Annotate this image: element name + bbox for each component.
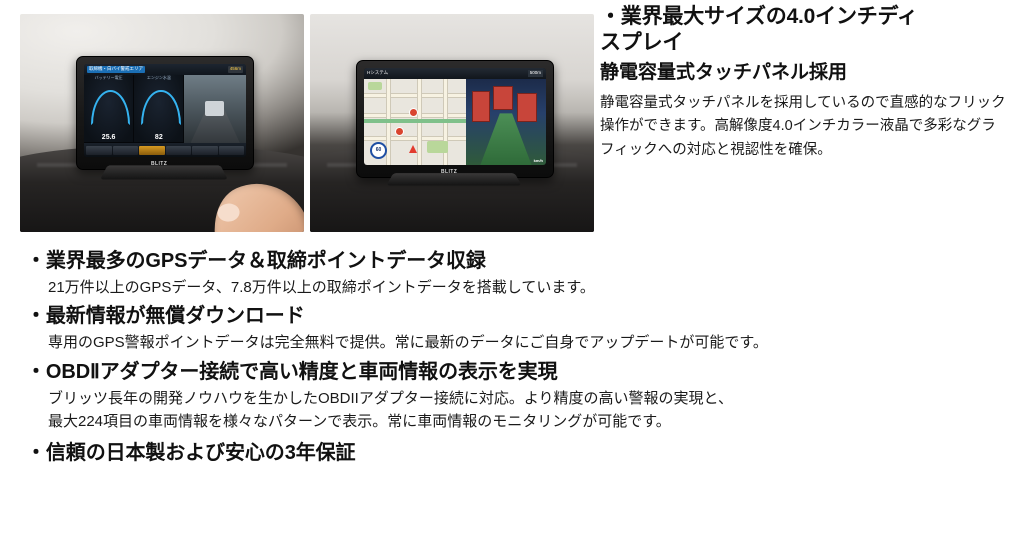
feature-section-free-download: ・最新情報が無償ダウンロード 専用のGPS警報ポイントデータは完全無料で提供。常… [26, 301, 1006, 354]
screen-button[interactable] [219, 146, 245, 155]
building-graphic [517, 93, 537, 123]
section-title: ・信頼の日本製および安心の3年保証 [26, 438, 1006, 468]
device-screen-left: 取締機・白バイ警戒エリア 456m バッテリー電圧 25.6 [84, 64, 246, 157]
section-title: ・OBDⅡアダプター接続で高い精度と車両情報の表示を実現 [26, 357, 1006, 387]
device-stand [386, 173, 521, 185]
gps-device-body: Hシステム 500m [356, 60, 554, 178]
map-green-area [368, 82, 382, 90]
gauge-water-temp-label: エンジン水温 [134, 76, 183, 80]
section-title: ・業界最多のGPSデータ＆取締ポイントデータ収録 [26, 246, 1006, 276]
building-graphic [472, 91, 490, 122]
feature-section-gps-data: ・業界最多のGPSデータ＆取締ポイントデータ収録 21万件以上のGPSデータ、7… [26, 246, 1006, 299]
device-stand [100, 165, 228, 179]
screen-status-bar: 取締機・白バイ警戒エリア 456m [84, 64, 246, 75]
section-body: 21万件以上のGPSデータ、7.8万件以上の取締ポイントデータを搭載しています。 [26, 276, 1006, 299]
section-body-line: 最大224項目の車両情報を様々なパターンで表示。常に車両情報のモニタリングが可能… [48, 410, 1006, 433]
gauge-column: バッテリー電圧 25.6 エンジン水温 82 [84, 75, 184, 143]
gauge-arc-icon [91, 90, 130, 125]
gauge-water-temp-value: 82 [134, 134, 183, 141]
gauge-water-temp[interactable]: エンジン水温 82 [134, 75, 184, 142]
gauge-row: バッテリー電圧 25.6 エンジン水温 82 [84, 75, 184, 143]
section-body: ブリッツ長年の開発ノウハウを生かしたOBDIIアダプター接続に対応。より精度の高… [26, 387, 1006, 434]
3d-view-pane[interactable]: km/h [466, 79, 546, 165]
display-feature-body: 静電容量式タッチパネルを採用しているので直感的なフリック操作ができます。高解像度… [600, 92, 1010, 162]
gauge-voltage[interactable]: バッテリー電圧 25.6 [84, 75, 134, 142]
screen-main-panel: バッテリー電圧 25.6 エンジン水温 82 [84, 75, 246, 143]
map-road [364, 136, 466, 141]
vehicle-position-arrow [409, 145, 417, 153]
display-feature-subhead: 静電容量式タッチパネル採用 [600, 61, 1010, 86]
map-pane[interactable]: 60 [364, 79, 466, 165]
map-green-area [427, 141, 447, 153]
feature-section-warranty: ・信頼の日本製および安心の3年保証 [26, 438, 1006, 468]
gauge-arc-icon [141, 90, 180, 125]
section-body-line: ブリッツ長年の開発ノウハウを生かしたOBDIIアダプター接続に対応。より精度の高… [48, 387, 1006, 410]
speed-limit-sign: 60 [370, 142, 387, 159]
display-feature-headline: ・業界最大サイズの4.0インチディ スプレイ [600, 4, 1010, 57]
building-graphic [493, 86, 513, 110]
device-screen-right: Hシステム 500m [364, 68, 546, 165]
map-road [364, 93, 466, 98]
screen-button-active[interactable] [139, 146, 165, 155]
fingernail [217, 203, 240, 222]
map-scale-label: 500m [528, 70, 543, 77]
headline-line-1: ・業界最大サイズの4.0インチディ [600, 5, 918, 28]
screen-button[interactable] [113, 146, 139, 155]
screen-button[interactable] [192, 146, 218, 155]
current-speed-readout: km/h [534, 159, 543, 163]
gps-device-body: 取締機・白バイ警戒エリア 456m バッテリー電圧 25.6 [76, 56, 254, 170]
section-body-line: 専用のGPS警報ポイントデータは完全無料で提供。常に最新のデータにご自身でアップ… [48, 331, 1006, 354]
feature-section-obd2: ・OBDⅡアダプター接続で高い精度と車両情報の表示を実現 ブリッツ長年の開発ノウ… [26, 357, 1006, 434]
system-label: Hシステム [367, 71, 388, 76]
touch-operation-photo: 取締機・白バイ警戒エリア 456m バッテリー電圧 25.6 [20, 14, 304, 232]
screen-button-bar [84, 143, 246, 157]
headline-line-2: スプレイ [600, 30, 1010, 56]
car-graphic [205, 101, 223, 116]
display-feature-block: ・業界最大サイズの4.0インチディ スプレイ 静電容量式タッチパネル採用 静電容… [600, 4, 1010, 162]
camera-preview-pane[interactable] [184, 75, 246, 143]
warning-area-label: 取締機・白バイ警戒エリア [87, 66, 145, 73]
speed-unit: km/h [534, 159, 543, 163]
map-alert-icon [409, 108, 418, 117]
map-alert-icon [395, 127, 404, 136]
gauge-voltage-value: 25.6 [84, 134, 133, 141]
navigation-map-photo: Hシステム 500m [310, 14, 594, 232]
section-body: 専用のGPS警報ポイントデータは完全無料で提供。常に最新のデータにご自身でアップ… [26, 331, 1006, 354]
screen-status-bar: Hシステム 500m [364, 68, 546, 79]
product-photo-strip: 取締機・白バイ警戒エリア 456m バッテリー電圧 25.6 [20, 14, 594, 232]
screen-button[interactable] [166, 146, 192, 155]
gauge-voltage-label: バッテリー電圧 [84, 76, 133, 80]
distance-label: 456m [228, 66, 243, 73]
section-body-line: 21万件以上のGPSデータ、7.8万件以上の取締ポイントデータを搭載しています。 [48, 276, 1006, 299]
map-main-road [364, 119, 466, 123]
top-section: 取締機・白バイ警戒エリア 456m バッテリー電圧 25.6 [0, 0, 1024, 244]
screen-button[interactable] [86, 146, 112, 155]
section-title: ・最新情報が無償ダウンロード [26, 301, 1006, 331]
feature-sections: ・業界最多のGPSデータ＆取締ポイントデータ収録 21万件以上のGPSデータ、7… [26, 246, 1006, 470]
